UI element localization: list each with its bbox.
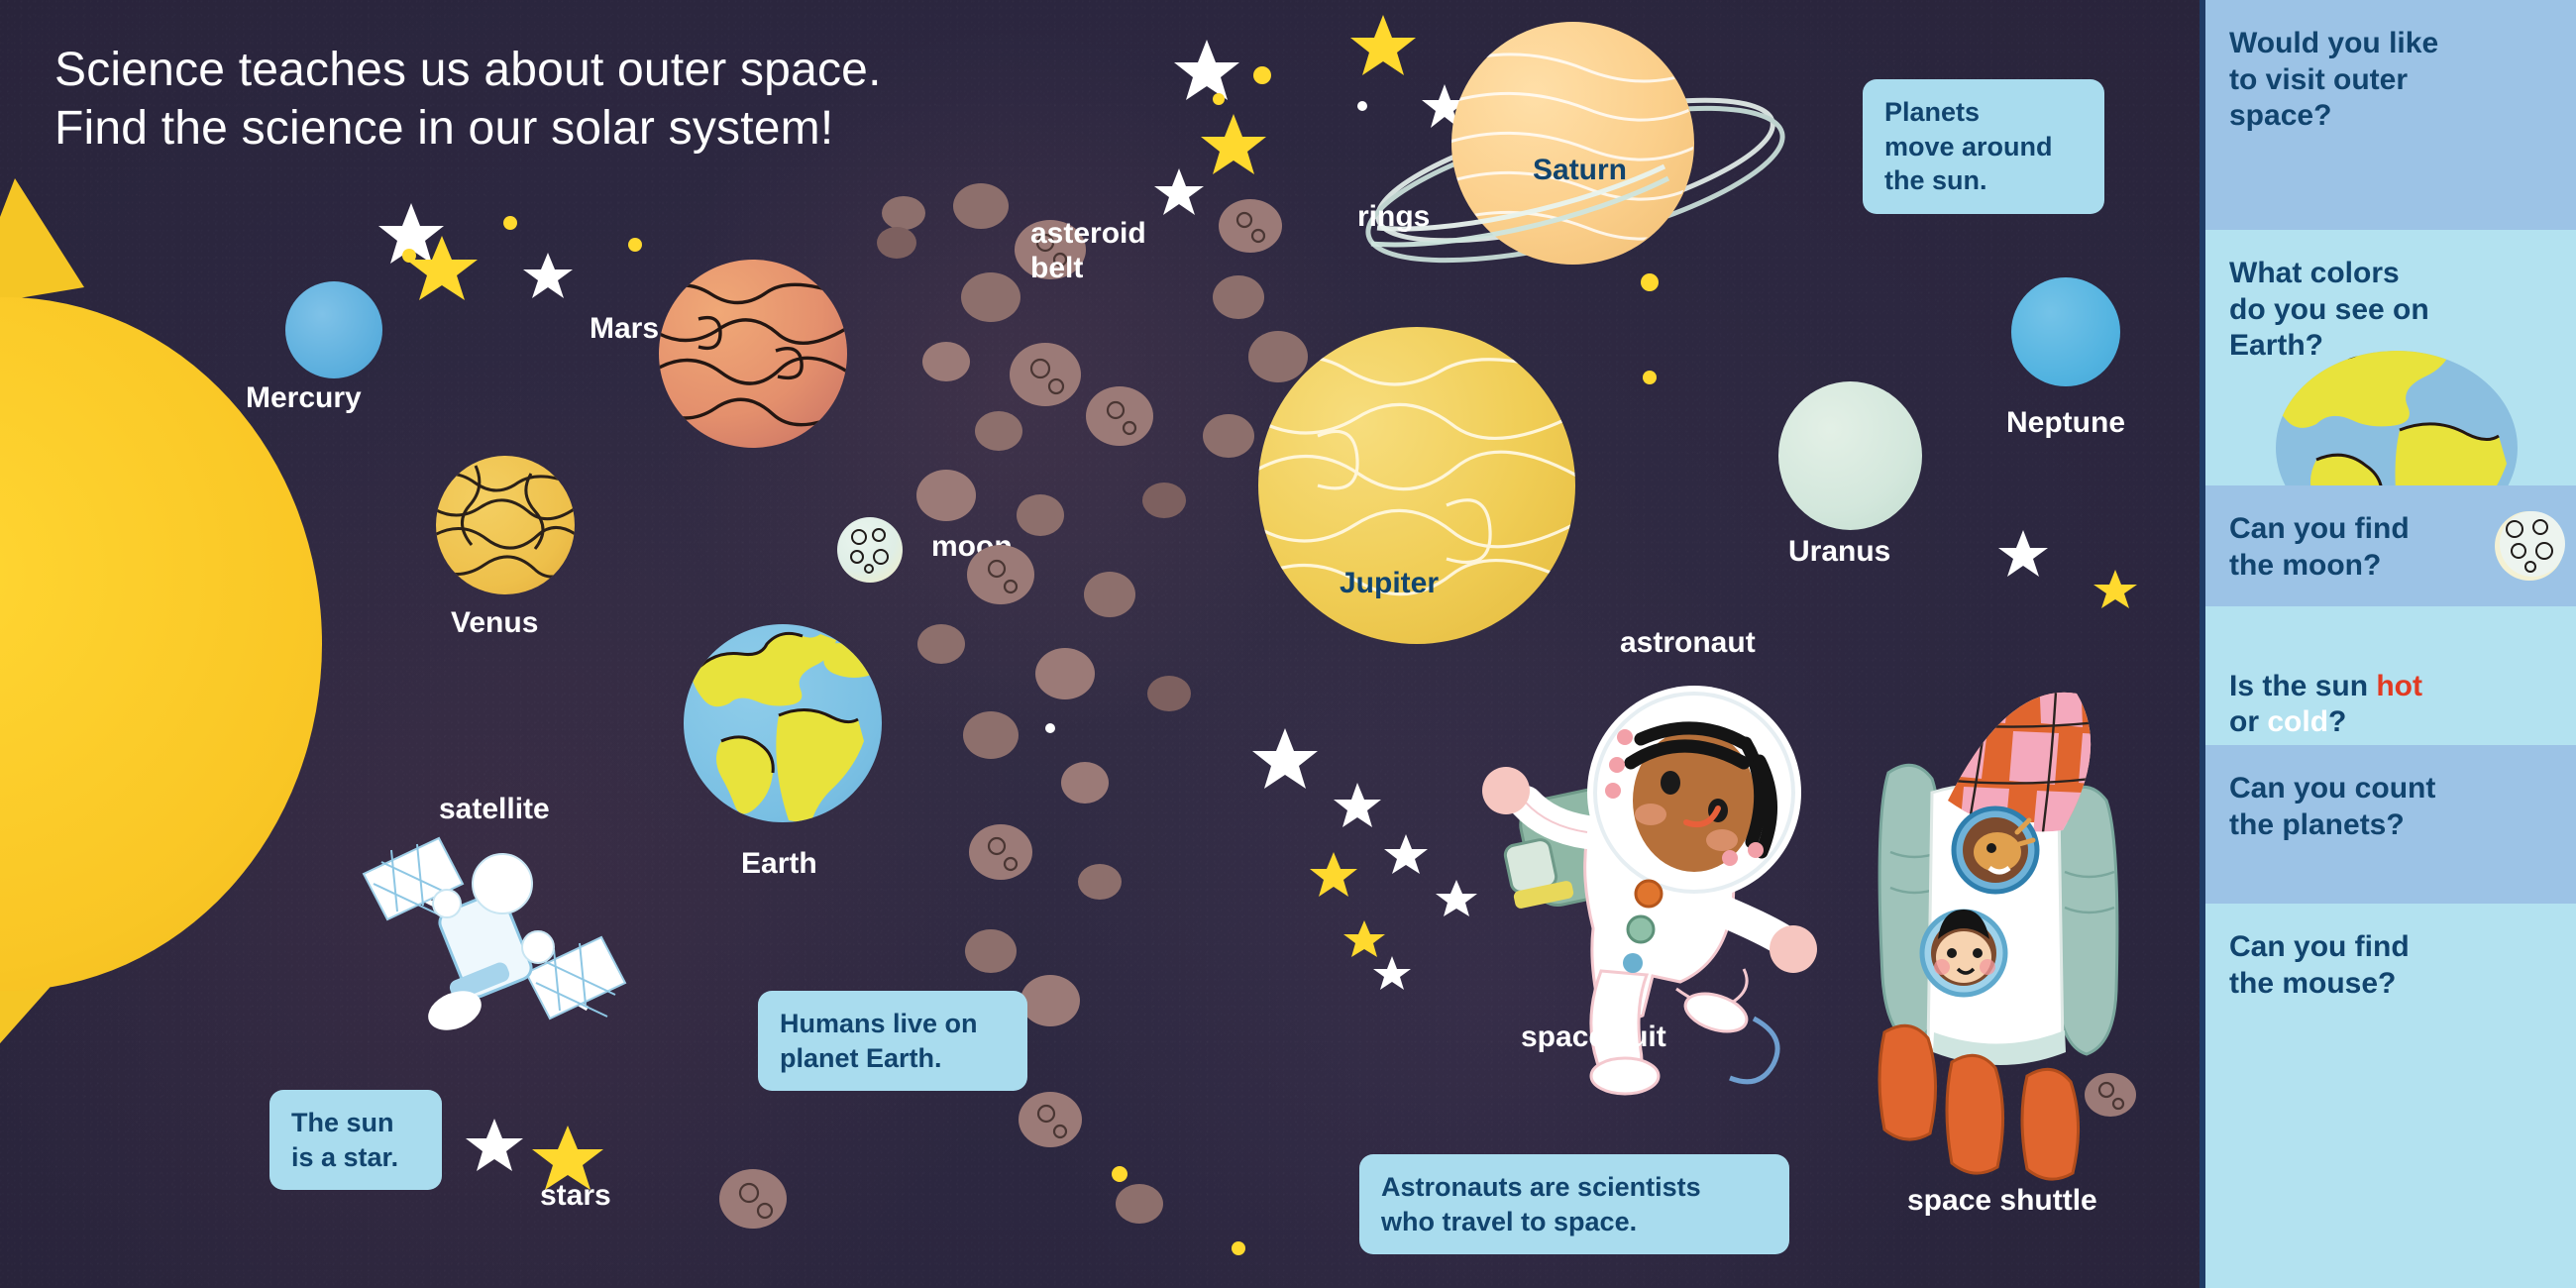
planet-uranus[interactable] bbox=[1778, 381, 1922, 530]
label-mercury: Mercury bbox=[246, 381, 362, 415]
question-sidebar: Would you like to visit outer space? Wha… bbox=[2200, 0, 2576, 1288]
space-shuttle-graphic[interactable] bbox=[1793, 684, 2170, 1199]
label-space-shuttle: space shuttle bbox=[1907, 1184, 2097, 1218]
sidebar-question-find-mouse[interactable]: Can you find the mouse? bbox=[2205, 904, 2576, 1288]
sidebar-question-find-moon[interactable]: Can you find the moon? bbox=[2205, 485, 2576, 606]
label-uranus: Uranus bbox=[1788, 535, 1890, 569]
label-stars: stars bbox=[540, 1179, 611, 1213]
sidebar-question-earth-colors[interactable]: What colors do you see on Earth? bbox=[2205, 230, 2576, 485]
label-rings: rings bbox=[1357, 200, 1430, 234]
planet-earth[interactable] bbox=[684, 624, 882, 822]
label-astronaut: astronaut bbox=[1620, 626, 1756, 660]
space-scene: sun Science teaches us about outer space… bbox=[0, 0, 2200, 1288]
moon-graphic[interactable] bbox=[837, 517, 903, 583]
bubble-humans-live: Humans live on planet Earth. bbox=[758, 991, 1027, 1091]
question-text: Can you find the mouse? bbox=[2229, 929, 2552, 1002]
planet-neptune[interactable] bbox=[2011, 277, 2120, 386]
question-text: Is the sun hot or cold? bbox=[2229, 632, 2552, 741]
label-moon: moon bbox=[931, 530, 1013, 564]
label-saturn: Saturn bbox=[1533, 154, 1627, 187]
label-mars: Mars bbox=[590, 312, 659, 346]
label-neptune: Neptune bbox=[2006, 406, 2125, 440]
q-part-hot: hot bbox=[2376, 670, 2422, 702]
planet-venus[interactable] bbox=[436, 456, 575, 594]
page-root: sun Science teaches us about outer space… bbox=[0, 0, 2576, 1288]
label-asteroid-belt: asteroid belt bbox=[1030, 216, 1146, 286]
sidebar-question-count-planets[interactable]: Can you count the planets? bbox=[2205, 745, 2576, 904]
label-space-suit: space suit bbox=[1521, 1020, 1666, 1054]
bubble-astronauts-are: Astronauts are scientists who travel to … bbox=[1359, 1154, 1789, 1254]
planet-mercury[interactable] bbox=[285, 281, 382, 378]
q-part-cold: cold bbox=[2267, 705, 2328, 738]
label-jupiter: Jupiter bbox=[1340, 567, 1439, 600]
bubble-planets-move: Planets move around the sun. bbox=[1863, 79, 2104, 214]
planet-saturn[interactable] bbox=[1451, 22, 1694, 265]
label-earth: Earth bbox=[741, 847, 817, 881]
question-text: Can you count the planets? bbox=[2229, 771, 2552, 843]
moon-icon bbox=[2493, 509, 2566, 583]
q-part: Is the sun bbox=[2229, 670, 2376, 702]
q-part: ? bbox=[2328, 705, 2346, 738]
sidebar-question-sun-hot-cold[interactable]: Is the sun hot or cold? bbox=[2205, 606, 2576, 745]
question-text: Would you like to visit outer space? bbox=[2229, 26, 2552, 135]
satellite-graphic[interactable] bbox=[352, 822, 649, 1080]
label-venus: Venus bbox=[451, 606, 538, 640]
sidebar-question-visit-space[interactable]: Would you like to visit outer space? bbox=[2205, 0, 2576, 230]
q-part: or bbox=[2229, 705, 2267, 738]
label-satellite: satellite bbox=[439, 793, 550, 826]
earth-icon bbox=[2273, 349, 2521, 485]
bubble-sun-is-star: The sun is a star. bbox=[269, 1090, 442, 1190]
planet-mars[interactable] bbox=[659, 260, 847, 448]
page-title: Science teaches us about outer space. Fi… bbox=[54, 42, 882, 158]
